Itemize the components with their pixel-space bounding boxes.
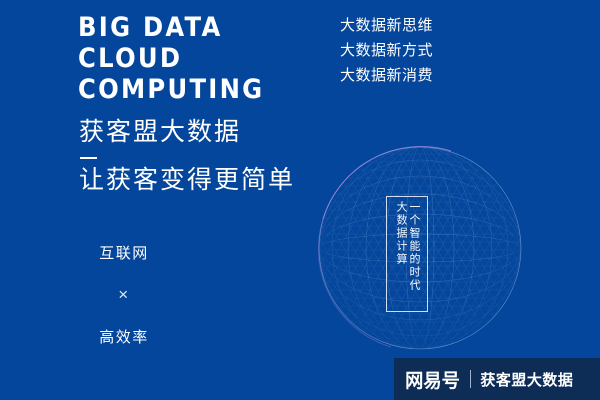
- sphere-vertical-text-secondary: 大数据计算: [394, 201, 407, 266]
- sphere-vertical-text-box: 一个智能的时代 大数据计算: [386, 196, 428, 312]
- english-heading: BIG DATA CLOUD COMPUTING: [78, 12, 264, 105]
- main-heading-line-1: 获客盟大数据: [79, 120, 241, 145]
- english-heading-line-1: BIG DATA: [78, 12, 264, 43]
- tagline-item-1: 大数据新思维: [340, 13, 433, 38]
- sphere-vertical-text-primary: 一个智能的时代: [407, 201, 420, 292]
- english-heading-line-2: CLOUD: [78, 43, 264, 74]
- tagline-item-2: 大数据新方式: [340, 38, 433, 63]
- brand-band: 网易号 获客盟大数据: [394, 358, 600, 400]
- tagline-list: 大数据新思维 大数据新方式 大数据新消费: [340, 13, 433, 88]
- multiply-icon: ×: [86, 285, 162, 305]
- formula-term-second: 高效率: [86, 326, 162, 347]
- poster-canvas: BIG DATA CLOUD COMPUTING 大数据新思维 大数据新方式 大…: [0, 0, 600, 400]
- brand-account-name: 获客盟大数据: [480, 369, 573, 390]
- tagline-item-3: 大数据新消费: [340, 63, 433, 88]
- main-heading: 获客盟大数据 让获客变得更简单: [79, 120, 241, 145]
- heading-divider-dash: [80, 157, 97, 159]
- netease-hao-logo: 网易号: [405, 366, 460, 393]
- english-heading-line-3: COMPUTING: [78, 74, 264, 105]
- brand-separator: [470, 370, 471, 388]
- main-heading-line-2: 让获客变得更简单: [79, 168, 295, 193]
- formula-term-first: 互联网: [86, 242, 162, 263]
- formula-stack: 互联网 × 高效率: [86, 242, 162, 347]
